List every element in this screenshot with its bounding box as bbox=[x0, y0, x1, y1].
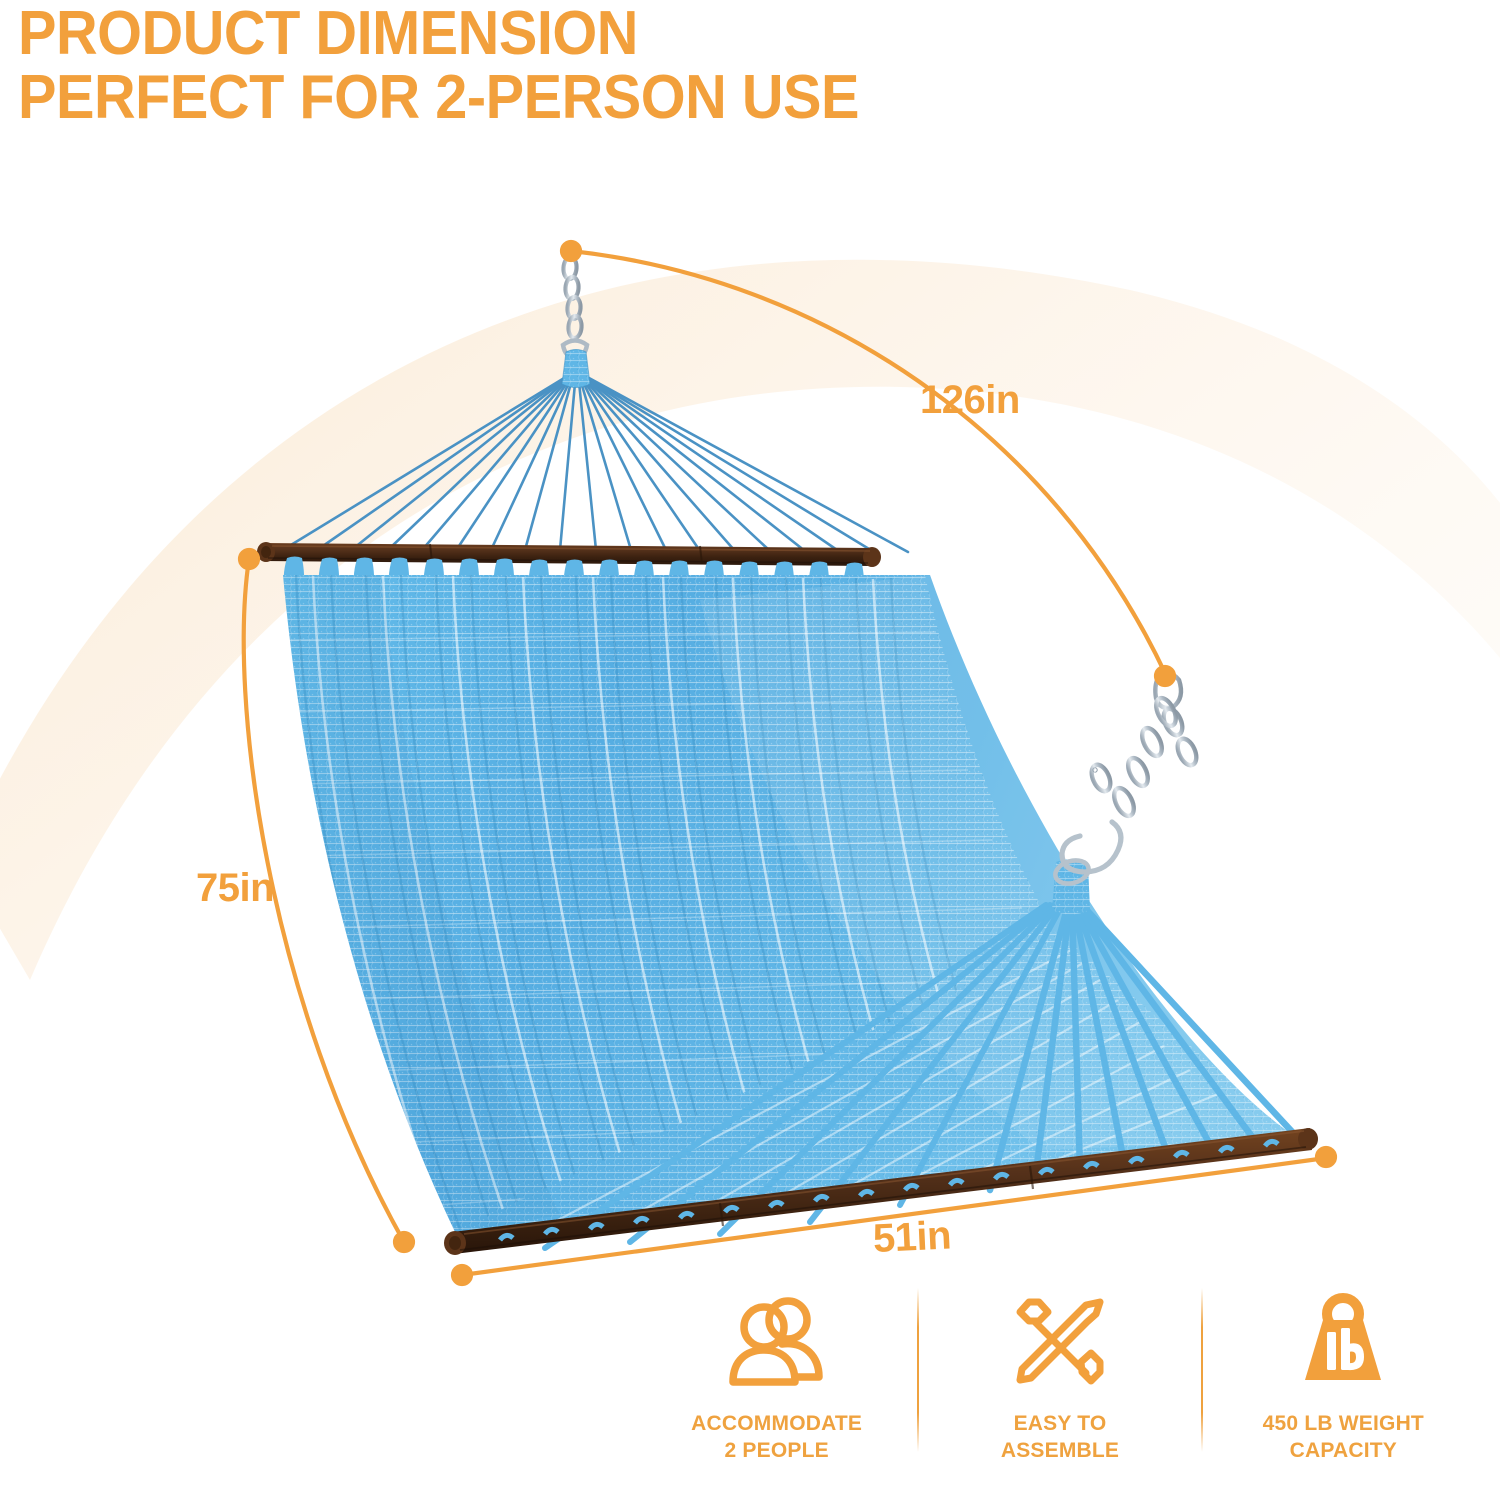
title-line-1: PRODUCT DIMENSION bbox=[18, 2, 859, 66]
measure-dot-75-end bbox=[395, 1233, 413, 1251]
caption-line-2: 2 PEOPLE bbox=[691, 1437, 862, 1464]
weight-lb-icon bbox=[1293, 1288, 1393, 1396]
dimension-label-height: 75in bbox=[196, 866, 274, 911]
feature-weight-capacity: 450 LB WEIGHT CAPACITY bbox=[1203, 1282, 1484, 1482]
feature-strip: ACCOMMODATE 2 PEOPLE EASY TO ASSEM bbox=[636, 1282, 1484, 1482]
feature-easy-assemble: EASY TO ASSEMBLE bbox=[919, 1282, 1200, 1482]
caption-line-1: EASY TO bbox=[1001, 1410, 1119, 1437]
feature-accommodate: ACCOMMODATE 2 PEOPLE bbox=[636, 1282, 917, 1482]
dimension-label-length: 126in bbox=[920, 378, 1020, 423]
caption-line-2: ASSEMBLE bbox=[1001, 1437, 1119, 1464]
measure-dot-51-start bbox=[453, 1266, 471, 1284]
feature-easy-assemble-caption: EASY TO ASSEMBLE bbox=[1001, 1410, 1119, 1465]
dimension-annotations bbox=[0, 0, 1500, 1486]
measure-dot-126-end bbox=[1156, 667, 1174, 685]
title-line-2: PERFECT FOR 2-PERSON USE bbox=[18, 66, 859, 130]
caption-line-2: CAPACITY bbox=[1263, 1437, 1424, 1464]
measure-line-126in bbox=[571, 251, 1165, 673]
caption-line-1: ACCOMMODATE bbox=[691, 1410, 862, 1437]
measure-dot-75-start bbox=[240, 550, 258, 568]
infographic-canvas: PRODUCT DIMENSION PERFECT FOR 2-PERSON U… bbox=[0, 0, 1500, 1486]
two-people-icon bbox=[725, 1288, 829, 1396]
measure-dot-126-start bbox=[562, 242, 580, 260]
feature-accommodate-caption: ACCOMMODATE 2 PEOPLE bbox=[691, 1410, 862, 1465]
wrench-screwdriver-icon bbox=[1008, 1288, 1112, 1396]
dimension-label-width: 51in bbox=[872, 1213, 952, 1261]
page-title: PRODUCT DIMENSION PERFECT FOR 2-PERSON U… bbox=[18, 2, 859, 130]
measure-dot-51-end bbox=[1317, 1148, 1335, 1166]
feature-weight-capacity-caption: 450 LB WEIGHT CAPACITY bbox=[1263, 1410, 1424, 1465]
caption-line-1: 450 LB WEIGHT bbox=[1263, 1410, 1424, 1437]
